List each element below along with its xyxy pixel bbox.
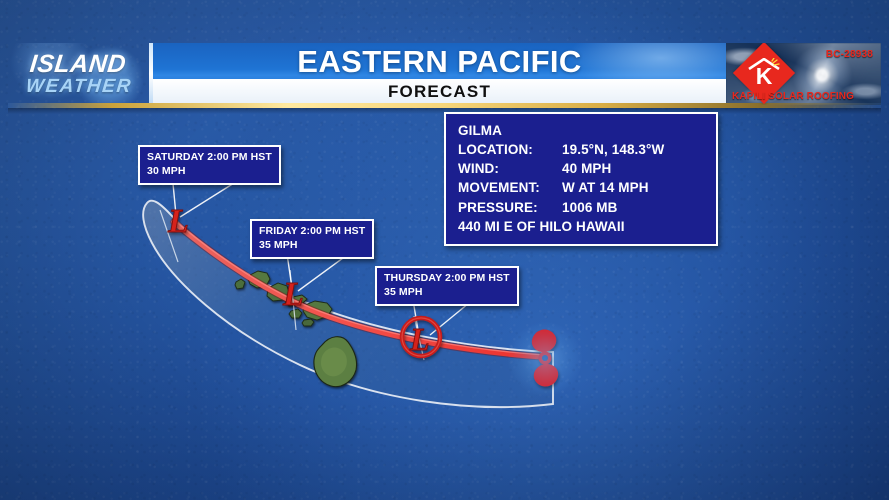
storm-location-row: LOCATION: 19.5°N, 148.3°W — [458, 140, 706, 159]
logo-island-text: ISLAND — [29, 52, 128, 76]
forecast-marker-saturday: L — [167, 203, 189, 240]
location-label: LOCATION: — [458, 140, 562, 159]
forecast-label-friday: FRIDAY 2:00 PM HST 35 MPH — [250, 219, 374, 259]
header-title-panel: EASTERN PACIFIC FORECAST — [153, 43, 726, 105]
forecast-label-thursday-time: THURSDAY 2:00 PM HST — [384, 272, 510, 286]
forecast-label-friday-time: FRIDAY 2:00 PM HST — [259, 225, 365, 239]
forecast-label-saturday-time: SATURDAY 2:00 PM HST — [147, 151, 272, 165]
station-logo[interactable]: ISLAND WEATHER — [8, 43, 149, 105]
svg-text:L: L — [282, 276, 304, 313]
storm-movement-row: MOVEMENT: W AT 14 MPH — [458, 178, 706, 197]
forecast-label-saturday: SATURDAY 2:00 PM HST 30 MPH — [138, 145, 281, 185]
sponsor-license-number: BC-28938 — [826, 49, 873, 60]
forecast-label-thursday-wind: 35 MPH — [384, 286, 510, 300]
pressure-label: PRESSURE: — [458, 198, 562, 217]
header-bar: ISLAND WEATHER EASTERN PACIFIC FORECAST … — [8, 43, 881, 105]
forecast-label-friday-wind: 35 MPH — [259, 239, 365, 253]
location-value: 19.5°N, 148.3°W — [562, 140, 706, 159]
pressure-value: 1006 MB — [562, 198, 706, 217]
wind-label: WIND: — [458, 159, 562, 178]
forecast-marker-friday: L — [282, 276, 304, 313]
storm-name: GILMA — [458, 121, 706, 140]
page-title: EASTERN PACIFIC — [153, 44, 726, 80]
page-subtitle: FORECAST — [153, 80, 726, 104]
logo-weather-text: WEATHER — [25, 77, 133, 96]
storm-info-box: GILMA LOCATION: 19.5°N, 148.3°W WIND: 40… — [444, 112, 718, 246]
storm-wind-row: WIND: 40 MPH — [458, 159, 706, 178]
storm-distance: 440 MI E OF HILO HAWAII — [458, 217, 706, 236]
storm-pressure-row: PRESSURE: 1006 MB — [458, 198, 706, 217]
roof-icon — [747, 58, 781, 70]
sponsor-logo[interactable]: K BC-28938 KAPILI SOLAR ROOFING — [726, 43, 881, 105]
movement-value: W AT 14 MPH — [562, 178, 706, 197]
svg-text:L: L — [167, 203, 189, 240]
movement-label: MOVEMENT: — [458, 178, 562, 197]
forecast-label-saturday-wind: 30 MPH — [147, 165, 272, 179]
svg-text:L: L — [409, 321, 430, 357]
sponsor-name-text: KAPILI SOLAR ROOFING — [732, 91, 854, 102]
wind-value: 40 MPH — [562, 159, 706, 178]
weather-forecast-graphic: L L L ISLAND WEATHER EASTERN PACIFIC FOR… — [0, 0, 889, 500]
forecast-label-thursday: THURSDAY 2:00 PM HST 35 MPH — [375, 266, 519, 306]
